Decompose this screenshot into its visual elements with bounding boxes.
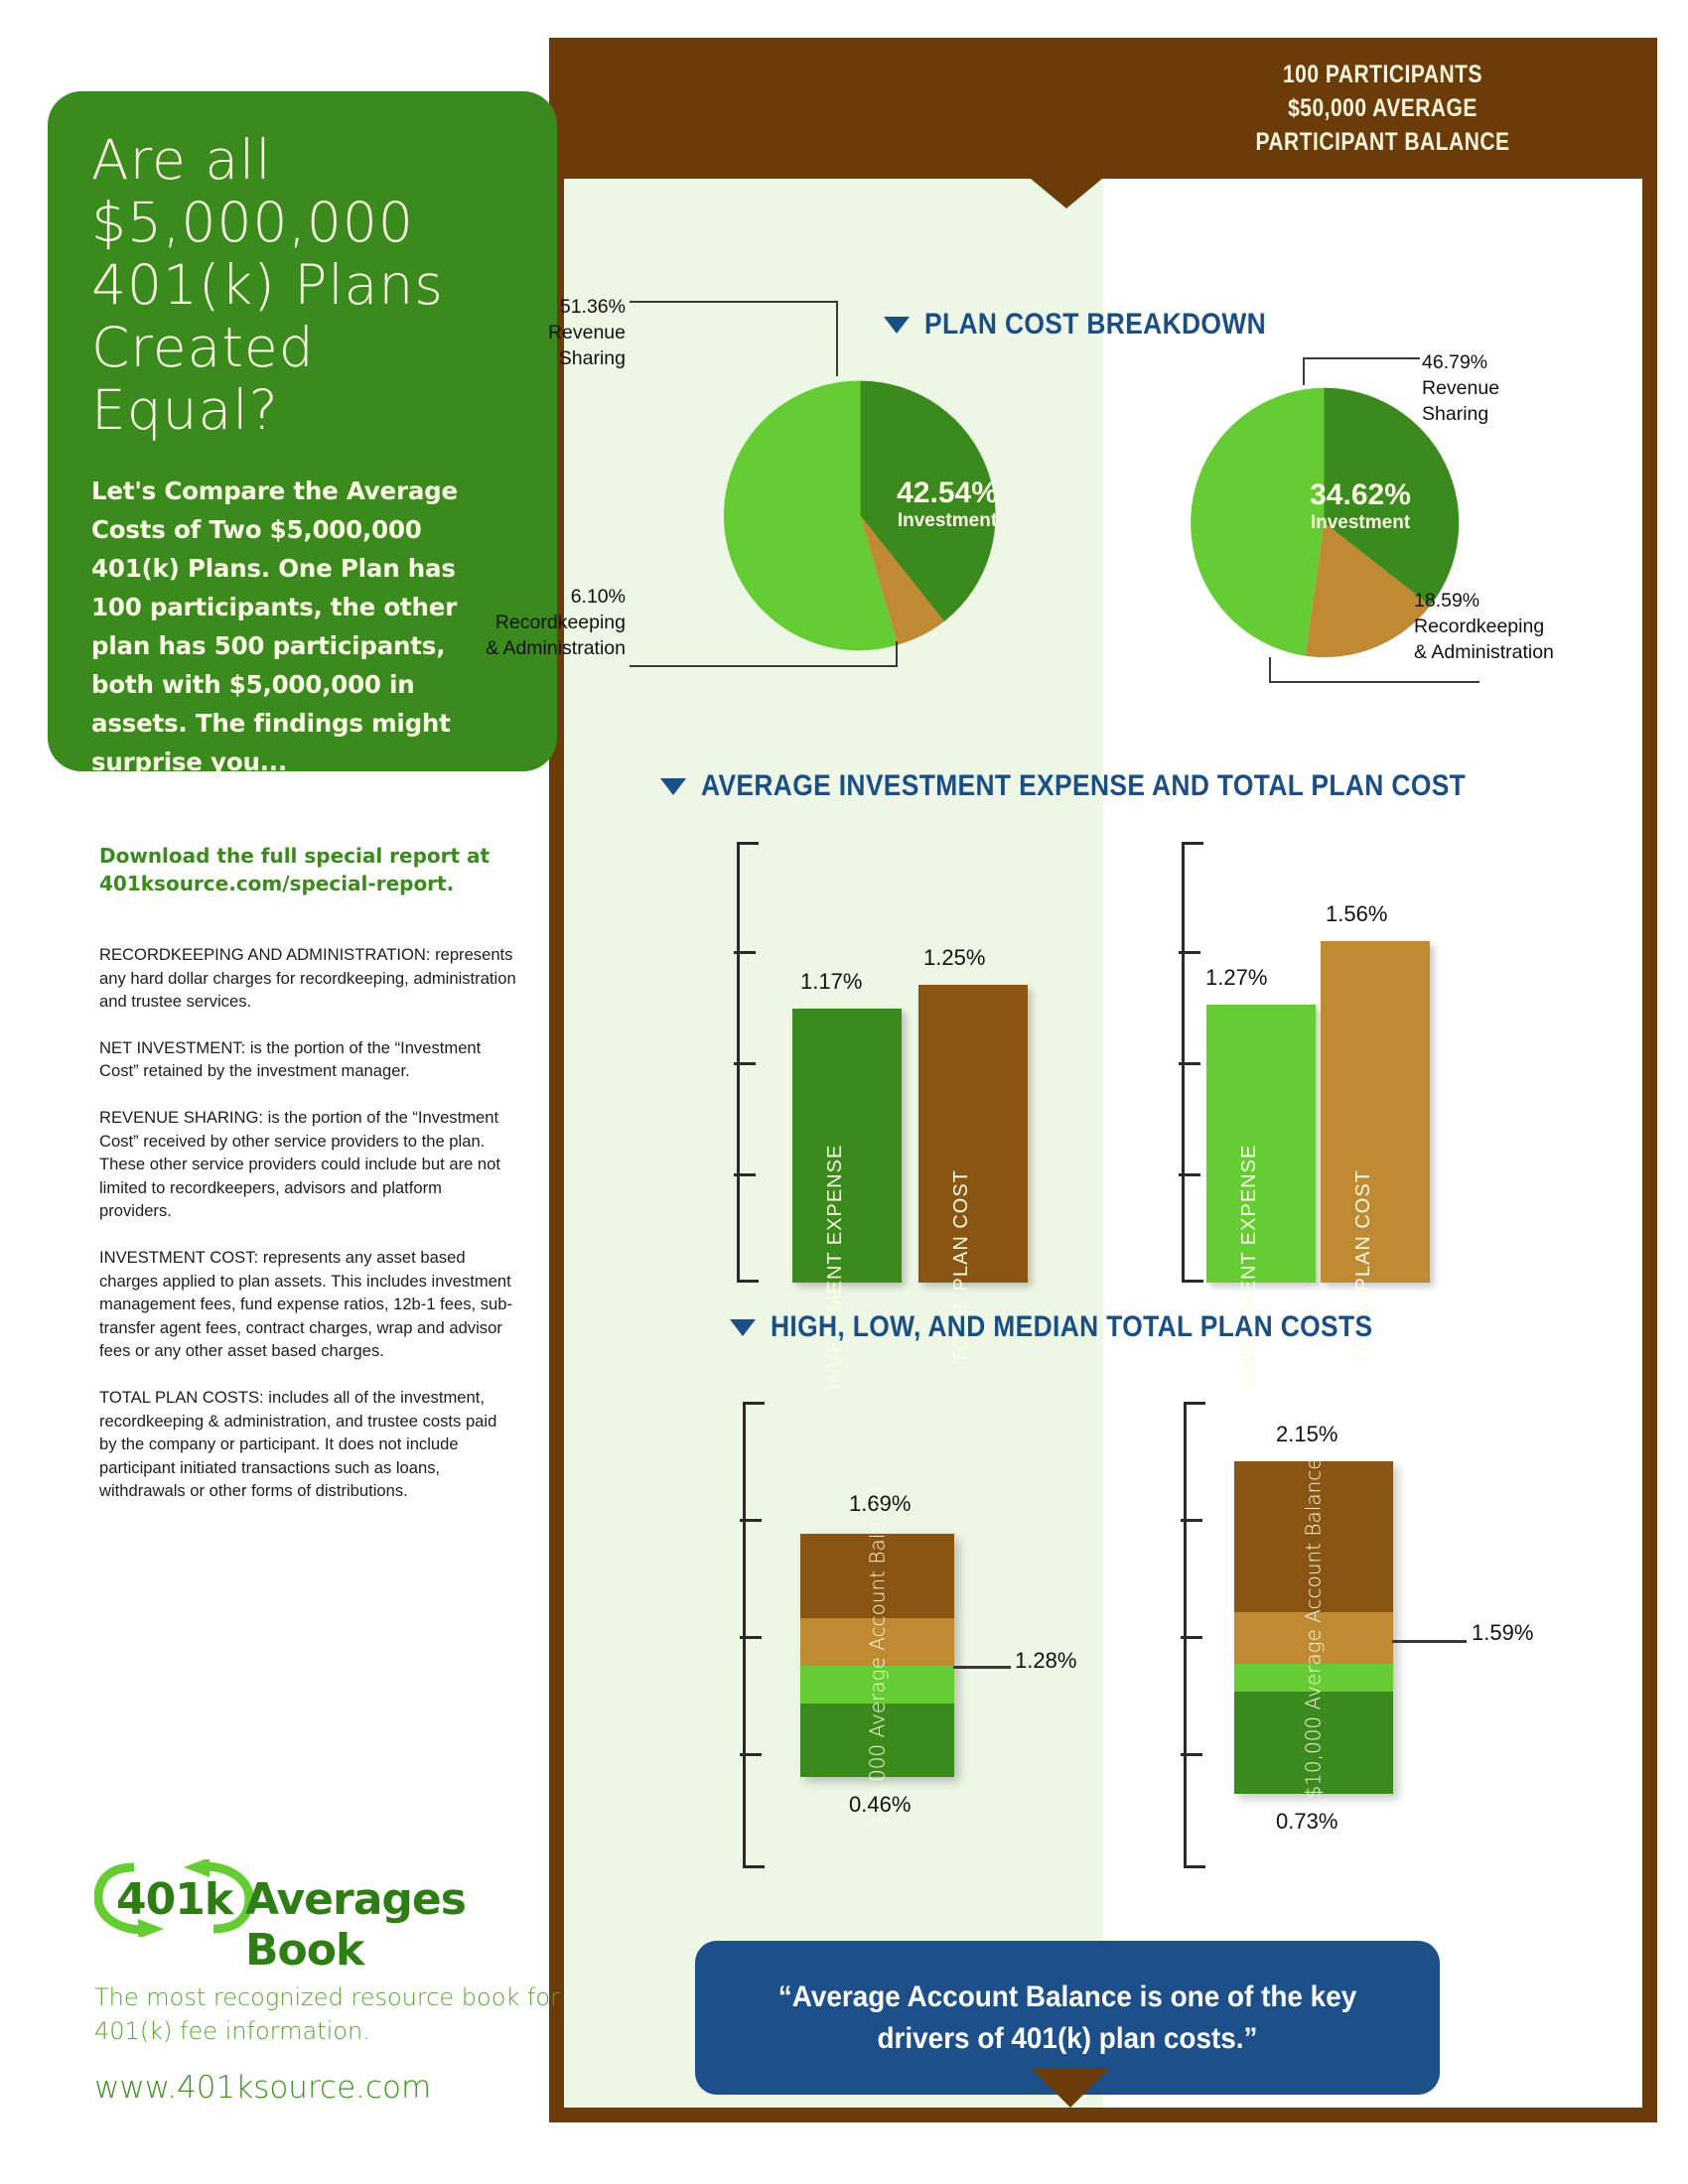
section-3-label: HIGH, LOW, AND MEDIAN TOTAL PLAN COSTS (771, 1310, 1372, 1344)
pie1-revenue-pct: 51.36% (506, 294, 626, 320)
stack-chart-1-tick-2 (740, 1636, 762, 1639)
pie2-recordkeeping-line1: Recordkeeping (1414, 614, 1642, 639)
pie1-recordkeeping-leader-line (630, 665, 898, 667)
brand-logo: 401k Averages Book (94, 1861, 561, 1941)
stack-chart-1-tick-1 (740, 1519, 762, 1522)
pie1-recordkeeping-label: 6.10% Recordkeeping & Administration (437, 584, 626, 661)
stacked-bar-10000-balance: $10,000 Average Account Balance (1234, 1461, 1393, 1794)
pie2-revenue-leader-line (1303, 357, 1420, 359)
stack-2-median-leader (1392, 1640, 1467, 1643)
bar-investment-expense-1: INVESTMENT EXPENSE (792, 1009, 902, 1283)
definition-net-investment: NET INVESTMENT: is the portion of the “I… (99, 1036, 516, 1083)
bar-chart-2-tick-3 (1179, 1173, 1200, 1176)
header-left-line3: PARTICIPANT BALANCE (1255, 125, 1509, 159)
bar-chart-2-value-investment: 1.27% (1205, 965, 1267, 991)
download-line-2: 401ksource.com/special-report. (99, 870, 516, 897)
stack-2-low-label: 0.73% (1276, 1809, 1337, 1835)
logo-averages-book-text: Averages Book (245, 1874, 561, 1976)
triangle-down-icon (660, 778, 686, 795)
section-3-label-part2: COSTS (1281, 1310, 1373, 1343)
bar-investment-expense-2-label: INVESTMENT EXPENSE (1237, 1145, 1261, 1390)
stack-chart-2-tick-3 (1181, 1753, 1202, 1756)
header-left-line2: $50,000 AVERAGE (1288, 91, 1477, 125)
stack-chart-2-tick-1 (1181, 1519, 1202, 1522)
pie1-recordkeeping-line1: Recordkeeping (437, 610, 626, 635)
pie1-revenue-leader-line (630, 301, 838, 303)
bar-investment-expense-2: INVESTMENT EXPENSE (1206, 1005, 1316, 1283)
infographic-page: 100 PARTICIPANTS $50,000 AVERAGE PARTICI… (0, 0, 1688, 2184)
section-2-label: AVERAGE INVESTMENT EXPENSE AND TOTAL PLA… (701, 769, 1466, 803)
pie1-revenue-line2: Sharing (506, 345, 626, 371)
stack-chart-2-axis (1184, 1402, 1187, 1868)
section-heading-plan-cost-breakdown: PLAN COST BREAKDOWN (884, 308, 1313, 341)
triangle-down-icon (884, 317, 910, 334)
section-heading-avg-investment-expense: AVERAGE INVESTMENT EXPENSE AND TOTAL PLA… (660, 769, 1570, 803)
bar-chart-1-tick-1 (734, 951, 756, 954)
header-col-100-participants: 100 PARTICIPANTS $50,000 AVERAGE PARTICI… (1156, 38, 1609, 179)
header-notch-triangle (1031, 179, 1102, 208)
pie2-revenue-leader-drop (1303, 357, 1305, 385)
pie2-investment-label: Investment (1286, 512, 1435, 534)
pie1-revenue-leader-drop (836, 301, 838, 376)
pie2-revenue-line1: Revenue (1422, 375, 1620, 401)
page-title: Are all $5,000,000 401(k) Plans Created … (91, 129, 513, 442)
pie2-revenue-pct: 46.79% (1422, 349, 1620, 375)
definition-investment-cost: INVESTMENT COST: represents any asset ba… (99, 1246, 516, 1363)
pie1-recordkeeping-line2: & Administration (437, 635, 626, 661)
pie2-revenue-line2: Sharing (1422, 401, 1620, 427)
pie2-recordkeeping-pct: 18.59% (1414, 588, 1642, 614)
pie1-investment-pct: 42.54% (878, 477, 1017, 510)
pie1-recordkeeping-pct: 6.10% (437, 584, 626, 610)
bar-chart-1-value-investment: 1.17% (800, 969, 862, 995)
bar-chart-1-value-total: 1.25% (923, 945, 985, 971)
stack-2-high-label: 2.15% (1276, 1422, 1337, 1447)
stack-chart-1-axis (743, 1402, 746, 1868)
pie2-recordkeeping-leader-drop (1269, 657, 1271, 683)
pie2-investment-pct: 34.62% (1286, 478, 1435, 512)
pie1-revenue-sharing-label: 51.36% Revenue Sharing (506, 294, 626, 371)
header-band: 100 PARTICIPANTS $50,000 AVERAGE PARTICI… (549, 38, 1657, 179)
definition-revenue-sharing: REVENUE SHARING: is the portion of the “… (99, 1106, 516, 1223)
pie2-recordkeeping-label: 18.59% Recordkeeping & Administration (1414, 588, 1642, 665)
triangle-down-icon (730, 1319, 756, 1336)
stack-1-low-label: 0.46% (849, 1792, 911, 1818)
stacked-bar-50000-balance: $50,000 Average Account Balance (800, 1534, 954, 1777)
bar-chart-1-tick-2 (734, 1062, 756, 1065)
header-left-line1: 100 PARTICIPANTS (1283, 58, 1482, 91)
section-heading-high-low-median: HIGH, LOW, AND MEDIAN TOTAL PLAN COSTS (730, 1310, 1455, 1344)
definition-total-plan-costs: TOTAL PLAN COSTS: includes all of the in… (99, 1386, 516, 1503)
pie1-investment-label: Investment (878, 510, 1017, 532)
pie2-recordkeeping-leader-line (1269, 681, 1479, 683)
logo-401k-text: 401k (116, 1874, 232, 1925)
section-1-label: PLAN COST BREAKDOWN (924, 308, 1266, 341)
bar-investment-expense-1-label: INVESTMENT EXPENSE (823, 1145, 847, 1390)
quote-text: “Average Account Balance is one of the k… (749, 1977, 1386, 2060)
bar-total-plan-cost-2: TOTAL PLAN COST (1321, 941, 1430, 1283)
bar-chart-2-tick-2 (1179, 1062, 1200, 1065)
bar-total-plan-cost-1: TOTAL PLAN COST (918, 985, 1028, 1283)
bar-chart-2-value-total: 1.56% (1326, 901, 1387, 927)
pie1-recordkeeping-leader-drop (896, 641, 898, 667)
stack-chart-1-tick-3 (740, 1753, 762, 1756)
stack-2-series-label: $10,000 Average Account Balance (1302, 1457, 1327, 1798)
definitions-list: RECORDKEEPING AND ADMINISTRATION: repres… (99, 943, 516, 1526)
stack-1-median-label: 1.28% (1015, 1648, 1076, 1674)
pie2-center-label: 34.62% Investment (1286, 478, 1435, 534)
stack-1-series-label: $50,000 Average Account Balance (865, 1485, 890, 1826)
pie1-center-label: 42.54% Investment (878, 477, 1017, 532)
brand-tagline: The most recognized resource book for 40… (94, 1980, 561, 2048)
definition-recordkeeping: RECORDKEEPING AND ADMINISTRATION: repres… (99, 943, 516, 1014)
stack-1-median-leader (953, 1666, 1011, 1669)
download-report-link[interactable]: Download the full special report at 401k… (99, 842, 516, 897)
pie2-recordkeeping-line2: & Administration (1414, 639, 1642, 665)
pie2-revenue-sharing-label: 46.79% Revenue Sharing (1422, 349, 1620, 427)
hero-card: Are all $5,000,000 401(k) Plans Created … (48, 91, 557, 771)
stack-2-median-label: 1.59% (1472, 1620, 1533, 1646)
bar-chart-2-tick-1 (1179, 951, 1200, 954)
pie1-revenue-line1: Revenue (506, 320, 626, 345)
quote-notch-triangle (1031, 2068, 1110, 2108)
section-3-label-part1: HIGH, LOW, AND MEDIAN TOTAL PLAN (771, 1310, 1281, 1343)
bar-chart-1-tick-3 (734, 1173, 756, 1176)
download-line-1: Download the full special report at (99, 842, 516, 870)
website-url[interactable]: www.401ksource.com (94, 2070, 431, 2106)
stack-chart-2-tick-2 (1181, 1636, 1202, 1639)
